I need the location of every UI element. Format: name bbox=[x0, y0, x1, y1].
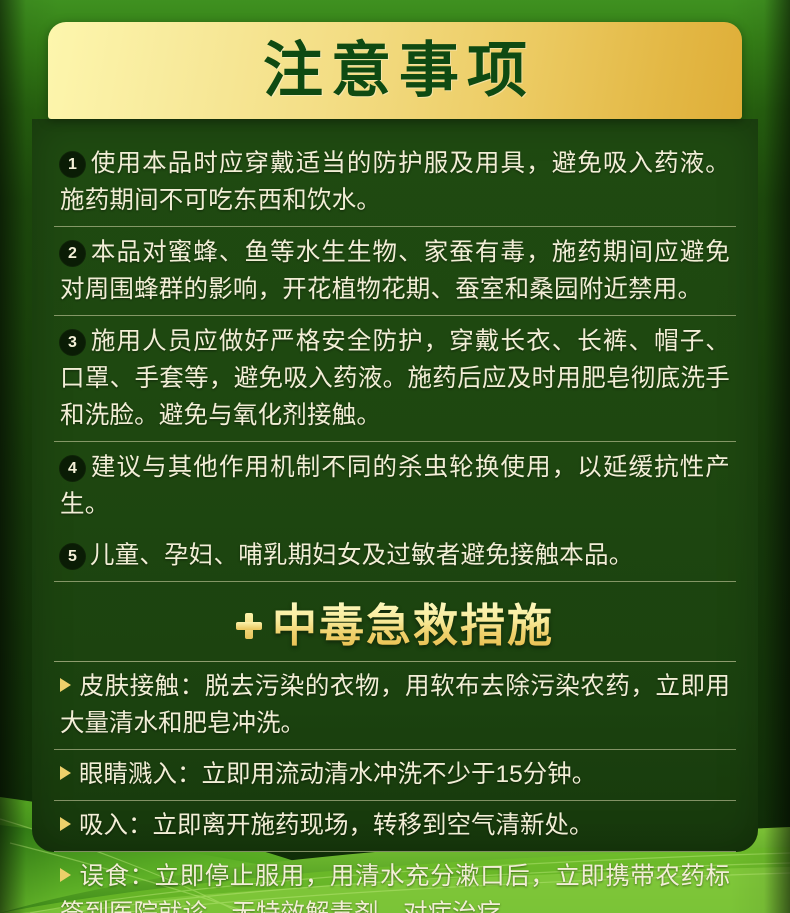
triangle-bullet-icon bbox=[60, 766, 71, 780]
first-aid-item-ingestion: 误食：立即停止服用，用清水充分漱口后，立即携带农药标签到医院就诊。无特效解毒剂，… bbox=[54, 852, 736, 913]
first-aid-header: 中毒急救措施 bbox=[54, 589, 736, 662]
warning-text: 儿童、孕妇、哺乳期妇女及过敏者避免接触本品。 bbox=[90, 542, 633, 569]
warning-text: 本品对蜜蜂、鱼等水生生物、家蚕有毒，施药期间应避免对周围蜂群的影响，开花植物花期… bbox=[60, 239, 730, 303]
first-aid-title: 中毒急救措施 bbox=[272, 602, 554, 651]
warning-item-5: 5儿童、孕妇、哺乳期妇女及过敏者避免接触本品。 bbox=[54, 537, 736, 582]
warning-item-4: 4建议与其他作用机制不同的杀虫轮换使用，以延缓抗性产生。 bbox=[54, 449, 736, 530]
warning-number-badge: 2 bbox=[60, 241, 85, 266]
first-aid-item-eyes: 眼睛溅入：立即用流动清水冲洗不少于15分钟。 bbox=[54, 750, 736, 801]
first-aid-item-inhalation: 吸入：立即离开施药现场，转移到空气清新处。 bbox=[54, 801, 736, 852]
warning-number-badge: 1 bbox=[60, 152, 85, 177]
triangle-bullet-icon bbox=[60, 678, 71, 692]
warning-item-1: 1使用本品时应穿戴适当的防护服及用具，避免吸入药液。施药期间不可吃东西和饮水。 bbox=[54, 145, 736, 227]
content-panel: 1使用本品时应穿戴适当的防护服及用具，避免吸入药液。施药期间不可吃东西和饮水。 … bbox=[32, 119, 758, 852]
first-aid-text: 皮肤接触：脱去污染的衣物，用软布去除污染农药，立即用大量清水和肥皂冲洗。 bbox=[60, 673, 730, 737]
warning-number-badge: 3 bbox=[60, 330, 85, 355]
warning-item-3: 3施用人员应做好严格安全防护，穿戴长衣、长裤、帽子、口罩、手套等，避免吸入药液。… bbox=[54, 323, 736, 442]
warning-text: 建议与其他作用机制不同的杀虫轮换使用，以延缓抗性产生。 bbox=[60, 454, 730, 518]
header-banner: 注意事项 bbox=[48, 22, 742, 119]
promo-page: 注意事项 1使用本品时应穿戴适当的防护服及用具，避免吸入药液。施药期间不可吃东西… bbox=[0, 0, 790, 913]
page-title: 注意事项 bbox=[255, 41, 535, 101]
first-aid-text: 眼睛溅入：立即用流动清水冲洗不少于15分钟。 bbox=[79, 761, 596, 788]
plus-cross-icon bbox=[236, 613, 262, 639]
warning-text: 使用本品时应穿戴适当的防护服及用具，避免吸入药液。施药期间不可吃东西和饮水。 bbox=[60, 150, 730, 214]
warning-number-badge: 5 bbox=[60, 544, 85, 569]
first-aid-text: 误食：立即停止服用，用清水充分漱口后，立即携带农药标签到医院就诊。无特效解毒剂，… bbox=[60, 863, 730, 913]
warning-number-badge: 4 bbox=[60, 456, 85, 481]
first-aid-item-skin: 皮肤接触：脱去污染的衣物，用软布去除污染农药，立即用大量清水和肥皂冲洗。 bbox=[54, 662, 736, 750]
first-aid-list: 皮肤接触：脱去污染的衣物，用软布去除污染农药，立即用大量清水和肥皂冲洗。 眼睛溅… bbox=[54, 662, 736, 913]
triangle-bullet-icon bbox=[60, 817, 71, 831]
first-aid-text: 吸入：立即离开施药现场，转移到空气清新处。 bbox=[79, 812, 594, 839]
warning-item-2: 2本品对蜜蜂、鱼等水生生物、家蚕有毒，施药期间应避免对周围蜂群的影响，开花植物花… bbox=[54, 234, 736, 316]
triangle-bullet-icon bbox=[60, 868, 71, 882]
warnings-list: 1使用本品时应穿戴适当的防护服及用具，避免吸入药液。施药期间不可吃东西和饮水。 … bbox=[54, 145, 736, 582]
warning-text: 施用人员应做好严格安全防护，穿戴长衣、长裤、帽子、口罩、手套等，避免吸入药液。施… bbox=[60, 328, 730, 429]
